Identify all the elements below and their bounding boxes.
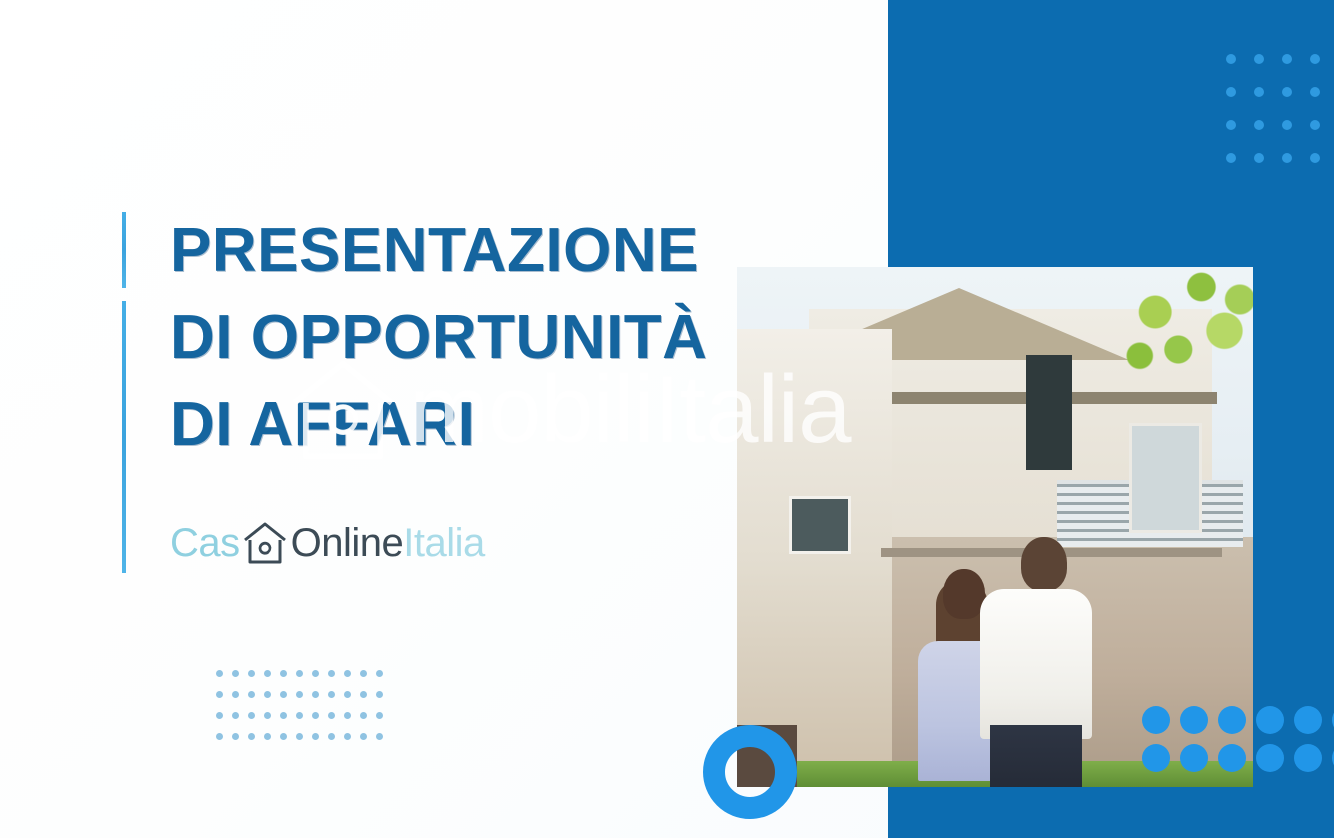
dot-grid-bottom-right	[1142, 706, 1334, 782]
dot-grid-top-right	[1226, 54, 1334, 186]
photo-person-man-head	[1021, 537, 1067, 591]
accent-bar-lower	[122, 301, 126, 573]
blue-panel-bottom	[888, 787, 1334, 838]
house-at-icon	[240, 518, 290, 568]
ring-decoration	[703, 725, 797, 819]
photo-foliage	[1109, 267, 1253, 387]
dot-grid-bottom-left	[216, 670, 392, 754]
title-line-2: DI OPPORTUNITÀ	[170, 294, 870, 381]
brand-logo[interactable]: Cas Online Italia	[170, 518, 485, 568]
logo-text-online: Online	[291, 520, 404, 566]
photo-person-man-legs	[990, 725, 1082, 787]
title-line-1: PRESENTAZIONE	[170, 207, 870, 294]
photo-person-man-body	[980, 589, 1092, 739]
title-line-3: DI AFFARI	[170, 381, 870, 468]
accent-bar-upper	[122, 212, 126, 288]
logo-text-cas: Cas	[170, 520, 240, 566]
photo-window-upper	[1026, 355, 1072, 469]
photo-window-left	[789, 496, 852, 554]
photo-window-right	[1129, 423, 1202, 533]
page-title: PRESENTAZIONE DI OPPORTUNITÀ DI AFFARI	[170, 207, 870, 468]
presentation-slide: mobiliItalia PRESENTAZIONE DI OPPORTUNIT…	[0, 0, 1334, 838]
logo-text-italia: Italia	[403, 520, 485, 566]
